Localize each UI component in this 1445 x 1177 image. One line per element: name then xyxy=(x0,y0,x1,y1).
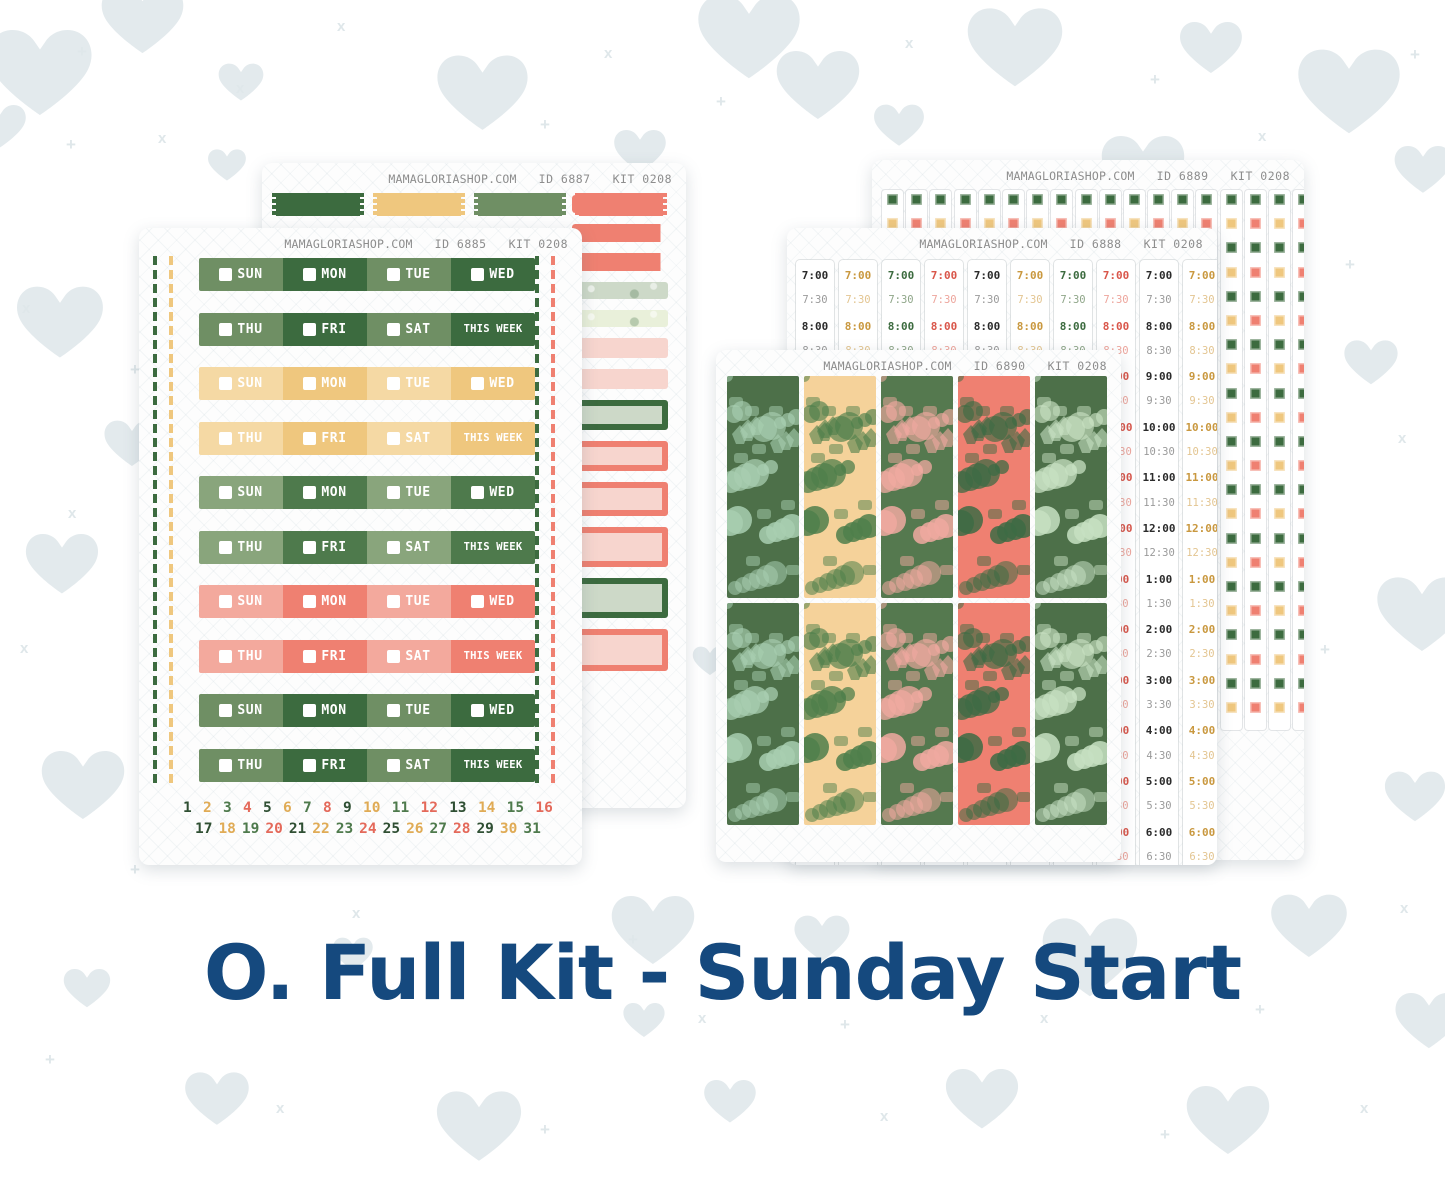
date-number-sticker[interactable]: 27 xyxy=(430,821,447,837)
date-number-sticker[interactable]: 30 xyxy=(500,821,517,837)
checkbox-square[interactable] xyxy=(1105,194,1116,205)
day-cell-tue[interactable]: TUE xyxy=(367,476,451,509)
day-cell-sat[interactable]: SAT xyxy=(367,531,451,564)
checkbox-square[interactable] xyxy=(887,194,898,205)
dashed-line-sticker[interactable] xyxy=(169,256,173,755)
checkbox-square[interactable] xyxy=(1298,242,1304,253)
day-cell-thu[interactable]: THU xyxy=(199,422,283,455)
dash-segment xyxy=(169,620,173,629)
date-number-sticker[interactable]: 12 xyxy=(420,800,437,816)
date-row-2[interactable]: 171819202122232425262728293031 xyxy=(183,816,553,837)
day-cell-fri[interactable]: FRI xyxy=(283,640,367,673)
day-cell-sat[interactable]: SAT xyxy=(367,422,451,455)
checkbox-square[interactable] xyxy=(1298,678,1304,689)
washi-pattern-hats-coins-barrels-coral[interactable] xyxy=(958,603,1030,825)
box-sticker-pattern[interactable] xyxy=(572,282,668,299)
checkbox-square[interactable] xyxy=(1153,194,1164,205)
checkbox-icon[interactable] xyxy=(387,595,400,608)
checkbox-square[interactable] xyxy=(911,194,922,205)
checkbox-square[interactable] xyxy=(1250,388,1261,399)
checkbox-square[interactable] xyxy=(1250,605,1261,616)
dash-segment xyxy=(153,494,157,503)
day-cell-thu[interactable]: THU xyxy=(199,749,283,782)
checkbox-square[interactable] xyxy=(1298,267,1304,278)
washi-pattern-hats-and-clovers[interactable] xyxy=(1035,376,1107,598)
date-number-sticker[interactable]: 3 xyxy=(223,800,232,816)
checkbox-strip-sticker[interactable] xyxy=(1293,190,1304,730)
checkbox-square[interactable] xyxy=(1250,315,1261,326)
checkbox-square[interactable] xyxy=(1274,388,1285,399)
day-label: TUE xyxy=(405,267,430,282)
box-sticker-tape[interactable] xyxy=(572,195,668,213)
box-sticker-frame-coral[interactable] xyxy=(572,527,668,567)
checkbox-icon[interactable] xyxy=(303,541,316,554)
checkbox-square[interactable] xyxy=(1298,581,1304,592)
checkbox-square[interactable] xyxy=(1008,194,1019,205)
date-number-sticker[interactable]: 21 xyxy=(289,821,306,837)
sticker-sheet-6890[interactable]: MAMAGLORIASHOP.COM ID 6890 KIT 0208 xyxy=(716,350,1121,862)
decorative-box-stickers[interactable] xyxy=(572,195,668,682)
checkbox-square[interactable] xyxy=(1274,533,1285,544)
dash-segment xyxy=(551,326,555,335)
washi-pattern-shamrocks-on-gold[interactable] xyxy=(804,603,876,825)
date-number-sticker[interactable]: 25 xyxy=(383,821,400,837)
checkbox-square[interactable] xyxy=(1226,363,1237,374)
checkbox-icon[interactable] xyxy=(303,704,316,717)
checkbox-square[interactable] xyxy=(960,194,971,205)
dash-segment xyxy=(551,522,555,531)
day-cell-mon[interactable]: MON xyxy=(283,585,367,618)
date-number-sticker[interactable]: 6 xyxy=(283,800,292,816)
sparkle-plus-icon: + xyxy=(840,1015,850,1035)
date-number-sticker[interactable]: 13 xyxy=(449,800,466,816)
checkbox-square[interactable] xyxy=(1274,629,1285,640)
day-strip-sticker[interactable]: THUFRISATTHIS WEEK xyxy=(199,749,535,782)
day-cell-wed[interactable]: WED xyxy=(451,694,535,727)
checkbox-square[interactable] xyxy=(1298,218,1304,229)
day-cell-thu[interactable]: THU xyxy=(199,313,283,346)
day-strip-sticker[interactable]: SUNMONTUEWED xyxy=(199,367,535,400)
date-number-sticker[interactable]: 9 xyxy=(343,800,352,816)
checkbox-square[interactable] xyxy=(1226,654,1237,665)
dash-segment xyxy=(153,690,157,699)
date-number-sticker[interactable]: 18 xyxy=(218,821,235,837)
checkbox-square[interactable] xyxy=(1032,194,1043,205)
checkbox-square[interactable] xyxy=(1250,194,1261,205)
time-strip-sticker[interactable]: 7:007:308:008:309:009:3010:0010:3011:001… xyxy=(1183,260,1217,865)
dash-segment xyxy=(535,284,539,293)
day-cell-this-week[interactable]: THIS WEEK xyxy=(451,531,535,564)
checkbox-square[interactable] xyxy=(1298,388,1304,399)
day-cell-sun[interactable]: SUN xyxy=(199,694,283,727)
time-label: 12:30 xyxy=(1183,541,1217,566)
box-sticker-pattern[interactable] xyxy=(572,310,668,327)
checkbox-icon[interactable] xyxy=(219,377,232,390)
checkbox-icon[interactable] xyxy=(219,595,232,608)
dashed-line-sticker[interactable] xyxy=(153,256,157,755)
dash-segment xyxy=(535,340,539,349)
washi-tape-sticker[interactable] xyxy=(478,193,562,216)
checkbox-square[interactable] xyxy=(1298,484,1304,495)
washi-pattern-hats-and-houses[interactable] xyxy=(727,376,799,598)
checkbox-icon[interactable] xyxy=(303,432,316,445)
date-number-stickers[interactable]: 12345678910111213141516 1718192021222324… xyxy=(183,800,553,837)
checkbox-square[interactable] xyxy=(1226,218,1237,229)
washi-pattern-floral-green[interactable] xyxy=(881,376,953,598)
checkbox-square[interactable] xyxy=(1081,194,1092,205)
day-strip-sticker[interactable]: SUNMONTUEWED xyxy=(199,585,535,618)
checkbox-strip-sticker[interactable] xyxy=(1245,190,1266,730)
checkbox-square[interactable] xyxy=(1226,605,1237,616)
dash-segment xyxy=(169,704,173,713)
date-number-sticker[interactable]: 17 xyxy=(195,821,212,837)
day-cell-mon[interactable]: MON xyxy=(283,258,367,291)
date-number-sticker[interactable]: 1 xyxy=(183,800,192,816)
box-sticker-frame-green[interactable] xyxy=(572,578,668,618)
date-number-sticker[interactable]: 15 xyxy=(507,800,524,816)
checkbox-icon[interactable] xyxy=(387,377,400,390)
checkbox-square[interactable] xyxy=(1298,363,1304,374)
time-label: 7:00 xyxy=(1183,263,1217,288)
checkbox-square[interactable] xyxy=(1226,629,1237,640)
day-cell-this-week[interactable]: THIS WEEK xyxy=(451,749,535,782)
checkbox-square[interactable] xyxy=(1226,267,1237,278)
checkbox-icon[interactable] xyxy=(471,268,484,281)
date-number-sticker[interactable]: 5 xyxy=(263,800,272,816)
checkbox-square[interactable] xyxy=(1250,267,1261,278)
day-strip-sticker[interactable]: THUFRISATTHIS WEEK xyxy=(199,422,535,455)
checkbox-square[interactable] xyxy=(1274,436,1285,447)
checkbox-square[interactable] xyxy=(1298,629,1304,640)
checkbox-icon[interactable] xyxy=(219,541,232,554)
day-cell-mon[interactable]: MON xyxy=(283,476,367,509)
day-cell-fri[interactable]: FRI xyxy=(283,313,367,346)
checkbox-square[interactable] xyxy=(1274,702,1285,713)
checkbox-square[interactable] xyxy=(1250,460,1261,471)
checkbox-square[interactable] xyxy=(1298,436,1304,447)
day-strip-sticker[interactable]: SUNMONTUEWED xyxy=(199,476,535,509)
dashed-line-sticker[interactable] xyxy=(535,256,539,755)
dash-segment xyxy=(169,732,173,741)
date-number-sticker[interactable]: 11 xyxy=(392,800,409,816)
day-strip-sticker[interactable]: THUFRISATTHIS WEEK xyxy=(199,640,535,673)
checkbox-square[interactable] xyxy=(1274,194,1285,205)
checkbox-square[interactable] xyxy=(1250,508,1261,519)
checkbox-icon[interactable] xyxy=(387,704,400,717)
day-cell-tue[interactable]: TUE xyxy=(367,367,451,400)
date-number-sticker[interactable]: 29 xyxy=(476,821,493,837)
day-cell-thu[interactable]: THU xyxy=(199,531,283,564)
day-label: TUE xyxy=(405,485,430,500)
checkbox-square[interactable] xyxy=(1298,508,1304,519)
checkbox-square[interactable] xyxy=(1250,218,1261,229)
day-cell-this-week[interactable]: THIS WEEK xyxy=(451,640,535,673)
checkbox-icon[interactable] xyxy=(387,759,400,772)
checkbox-icon[interactable] xyxy=(471,704,484,717)
checkbox-square[interactable] xyxy=(1274,678,1285,689)
checkbox-square[interactable] xyxy=(1226,339,1237,350)
checkbox-square[interactable] xyxy=(1226,581,1237,592)
date-row-1[interactable]: 12345678910111213141516 xyxy=(183,800,553,816)
checkbox-square[interactable] xyxy=(1250,242,1261,253)
checkbox-square[interactable] xyxy=(1274,460,1285,471)
checkbox-square[interactable] xyxy=(1226,242,1237,253)
box-sticker-frame-plain[interactable] xyxy=(572,629,668,671)
time-label: 10:00 xyxy=(1140,415,1178,440)
dash-segment xyxy=(153,382,157,391)
date-number-sticker[interactable]: 7 xyxy=(303,800,312,816)
checkbox-square[interactable] xyxy=(1298,194,1304,205)
dash-segment xyxy=(169,662,173,671)
dash-segment xyxy=(551,270,555,279)
checkbox-square[interactable] xyxy=(1250,654,1261,665)
checkbox-square[interactable] xyxy=(1274,508,1285,519)
patterned-washi-strips[interactable] xyxy=(727,376,1112,825)
checkbox-icon[interactable] xyxy=(219,704,232,717)
checkbox-square[interactable] xyxy=(1274,315,1285,326)
date-number-sticker[interactable]: 23 xyxy=(336,821,353,837)
day-cell-sat[interactable]: SAT xyxy=(367,313,451,346)
washi-pattern-hats-and-houses[interactable] xyxy=(727,603,799,825)
checkbox-icon[interactable] xyxy=(219,432,232,445)
date-number-sticker[interactable]: 22 xyxy=(312,821,329,837)
checkbox-square[interactable] xyxy=(1250,557,1261,568)
checkbox-square[interactable] xyxy=(1274,605,1285,616)
checkbox-square[interactable] xyxy=(1226,557,1237,568)
checkbox-square[interactable] xyxy=(1274,291,1285,302)
checkbox-square[interactable] xyxy=(1298,460,1304,471)
checkbox-square[interactable] xyxy=(1226,194,1237,205)
date-number-sticker[interactable]: 26 xyxy=(406,821,423,837)
checkbox-square[interactable] xyxy=(1298,557,1304,568)
checkbox-square[interactable] xyxy=(1250,581,1261,592)
checkbox-icon[interactable] xyxy=(387,323,400,336)
date-number-sticker[interactable]: 8 xyxy=(323,800,332,816)
day-cell-sun[interactable]: SUN xyxy=(199,367,283,400)
day-strip-sticker[interactable]: SUNMONTUEWED xyxy=(199,258,535,291)
checkbox-square[interactable] xyxy=(1250,629,1261,640)
date-number-sticker[interactable]: 16 xyxy=(535,800,552,816)
checkbox-square[interactable] xyxy=(1226,436,1237,447)
checkbox-square[interactable] xyxy=(1274,484,1285,495)
checkbox-square[interactable] xyxy=(1298,339,1304,350)
box-sticker-frame-plain[interactable] xyxy=(572,482,668,516)
day-cell-fri[interactable]: FRI xyxy=(283,749,367,782)
kit-number: KIT 0208 xyxy=(509,237,568,251)
dash-segment xyxy=(153,368,157,377)
box-inner xyxy=(578,447,662,465)
checkbox-square[interactable] xyxy=(1250,436,1261,447)
checkbox-square[interactable] xyxy=(1298,654,1304,665)
checkbox-icon[interactable] xyxy=(219,323,232,336)
checkbox-square[interactable] xyxy=(1274,267,1285,278)
day-cell-fri[interactable]: FRI xyxy=(283,531,367,564)
checkbox-square[interactable] xyxy=(1298,315,1304,326)
heart-icon xyxy=(35,735,131,831)
day-cell-tue[interactable]: TUE xyxy=(367,258,451,291)
checkbox-square[interactable] xyxy=(1274,218,1285,229)
checkbox-square[interactable] xyxy=(1226,702,1237,713)
day-label-strips[interactable]: SUNMONTUEWEDTHUFRISATTHIS WEEKSUNMONTUEW… xyxy=(199,258,535,803)
heart-icon xyxy=(1340,330,1402,392)
checkbox-square[interactable] xyxy=(1250,533,1261,544)
washi-pattern-hats-and-clovers[interactable] xyxy=(1035,603,1107,825)
dash-segment xyxy=(153,396,157,405)
checkbox-square[interactable] xyxy=(1226,388,1237,399)
day-cell-sat[interactable]: SAT xyxy=(367,749,451,782)
checkbox-square[interactable] xyxy=(1298,533,1304,544)
checkbox-icon[interactable] xyxy=(219,486,232,499)
checkbox-square[interactable] xyxy=(1226,291,1237,302)
checkbox-square[interactable] xyxy=(1226,315,1237,326)
checkbox-square[interactable] xyxy=(1274,581,1285,592)
box-sticker-label[interactable] xyxy=(572,369,668,389)
time-strip-sticker[interactable]: 7:007:308:008:309:009:3010:0010:3011:001… xyxy=(1140,260,1178,865)
box-sticker-tape[interactable] xyxy=(572,253,668,271)
dash-segment xyxy=(535,508,539,517)
checkbox-strip-sticker[interactable] xyxy=(1269,190,1290,730)
checkbox-icon[interactable] xyxy=(303,268,316,281)
day-cell-this-week[interactable]: THIS WEEK xyxy=(451,313,535,346)
checkbox-icon[interactable] xyxy=(303,595,316,608)
checkbox-square[interactable] xyxy=(1250,412,1261,423)
checkbox-icon[interactable] xyxy=(387,541,400,554)
dash-segment xyxy=(535,480,539,489)
checkbox-square[interactable] xyxy=(1298,412,1304,423)
checkbox-square[interactable] xyxy=(1298,702,1304,713)
box-sticker-frame-coral[interactable] xyxy=(572,441,668,471)
checkbox-icon[interactable] xyxy=(219,759,232,772)
washi-pattern-shamrocks-on-gold[interactable] xyxy=(804,376,876,598)
checkbox-square[interactable] xyxy=(1274,412,1285,423)
dash-segment xyxy=(535,592,539,601)
day-label: SAT xyxy=(405,758,430,773)
checkbox-icon[interactable] xyxy=(303,323,316,336)
sticker-sheet-6885[interactable]: MAMAGLORIASHOP.COM ID 6885 KIT 0208 SUNM… xyxy=(139,228,582,865)
dash-segment xyxy=(551,606,555,615)
date-number-sticker[interactable]: 31 xyxy=(523,821,540,837)
day-cell-thu[interactable]: THU xyxy=(199,640,283,673)
day-cell-wed[interactable]: WED xyxy=(451,258,535,291)
washi-pattern-hats-coins-barrels-coral[interactable] xyxy=(958,376,1030,598)
washi-pattern-floral-green[interactable] xyxy=(881,603,953,825)
checkbox-icon[interactable] xyxy=(471,377,484,390)
checkbox-square[interactable] xyxy=(1226,678,1237,689)
day-cell-sun[interactable]: SUN xyxy=(199,585,283,618)
date-number-sticker[interactable]: 10 xyxy=(363,800,380,816)
checkbox-icon[interactable] xyxy=(471,595,484,608)
dash-segment xyxy=(153,298,157,307)
date-number-sticker[interactable]: 24 xyxy=(359,821,376,837)
checkbox-icon[interactable] xyxy=(471,486,484,499)
checkbox-square[interactable] xyxy=(1226,508,1237,519)
checkbox-square[interactable] xyxy=(1250,291,1261,302)
checkbox-square[interactable] xyxy=(1226,484,1237,495)
checkbox-square[interactable] xyxy=(1274,363,1285,374)
checkbox-square[interactable] xyxy=(1201,194,1212,205)
day-strip-sticker[interactable]: THUFRISATTHIS WEEK xyxy=(199,313,535,346)
date-number-sticker[interactable]: 2 xyxy=(203,800,212,816)
box-sticker-tape[interactable] xyxy=(572,224,668,242)
dash-segment xyxy=(535,522,539,531)
dashed-line-sticker[interactable] xyxy=(551,256,555,755)
checkbox-square[interactable] xyxy=(1056,194,1067,205)
checkbox-square[interactable] xyxy=(1226,412,1237,423)
day-cell-mon[interactable]: MON xyxy=(283,694,367,727)
checkbox-icon[interactable] xyxy=(303,759,316,772)
checkbox-square[interactable] xyxy=(1226,460,1237,471)
date-number-sticker[interactable]: 4 xyxy=(243,800,252,816)
date-number-sticker[interactable]: 14 xyxy=(478,800,495,816)
date-number-sticker[interactable]: 19 xyxy=(242,821,259,837)
day-cell-sun[interactable]: SUN xyxy=(199,258,283,291)
checkbox-square[interactable] xyxy=(1226,533,1237,544)
day-strip-sticker[interactable]: SUNMONTUEWED xyxy=(199,694,535,727)
checkbox-square[interactable] xyxy=(1250,702,1261,713)
day-cell-tue[interactable]: TUE xyxy=(367,585,451,618)
checkbox-square[interactable] xyxy=(1274,242,1285,253)
checkbox-square[interactable] xyxy=(1274,339,1285,350)
date-number-sticker[interactable]: 20 xyxy=(265,821,282,837)
checkbox-square[interactable] xyxy=(1274,654,1285,665)
washi-tape-sticker[interactable] xyxy=(377,193,461,216)
checkbox-icon[interactable] xyxy=(303,377,316,390)
checkbox-icon[interactable] xyxy=(387,650,400,663)
checkbox-strip-sticker[interactable] xyxy=(1221,190,1242,730)
box-sticker-frame-green[interactable] xyxy=(572,400,668,430)
heart-icon xyxy=(1390,135,1445,201)
day-strip-sticker[interactable]: THUFRISATTHIS WEEK xyxy=(199,531,535,564)
checkbox-square[interactable] xyxy=(1250,678,1261,689)
day-cell-this-week[interactable]: THIS WEEK xyxy=(451,422,535,455)
washi-tape-sticker[interactable] xyxy=(276,193,360,216)
time-label: 7:00 xyxy=(882,263,920,288)
heart-icon xyxy=(960,0,1070,100)
day-cell-fri[interactable]: FRI xyxy=(283,422,367,455)
checkbox-icon[interactable] xyxy=(387,486,400,499)
checkbox-icon[interactable] xyxy=(387,268,400,281)
checkbox-icon[interactable] xyxy=(303,650,316,663)
checkbox-square[interactable] xyxy=(1250,363,1261,374)
day-cell-wed[interactable]: WED xyxy=(451,585,535,618)
dash-segment xyxy=(535,298,539,307)
day-cell-tue[interactable]: TUE xyxy=(367,694,451,727)
checkbox-square[interactable] xyxy=(1250,339,1261,350)
day-cell-sat[interactable]: SAT xyxy=(367,640,451,673)
checkbox-square[interactable] xyxy=(984,194,995,205)
checkbox-square[interactable] xyxy=(1177,194,1188,205)
checkbox-square[interactable] xyxy=(1129,194,1140,205)
checkbox-icon[interactable] xyxy=(303,486,316,499)
day-cell-sun[interactable]: SUN xyxy=(199,476,283,509)
checkbox-icon[interactable] xyxy=(219,268,232,281)
box-sticker-label[interactable] xyxy=(572,338,668,358)
checkbox-square[interactable] xyxy=(1250,484,1261,495)
date-number-sticker[interactable]: 28 xyxy=(453,821,470,837)
checkbox-icon[interactable] xyxy=(387,432,400,445)
day-cell-wed[interactable]: WED xyxy=(451,476,535,509)
checkbox-square[interactable] xyxy=(1274,557,1285,568)
day-cell-mon[interactable]: MON xyxy=(283,367,367,400)
dash-segment xyxy=(169,494,173,503)
checkbox-square[interactable] xyxy=(935,194,946,205)
checkbox-square[interactable] xyxy=(1298,291,1304,302)
dash-segment xyxy=(551,676,555,685)
day-cell-wed[interactable]: WED xyxy=(451,367,535,400)
dash-segment xyxy=(169,760,173,769)
checkbox-square[interactable] xyxy=(1298,605,1304,616)
checkbox-icon[interactable] xyxy=(219,650,232,663)
